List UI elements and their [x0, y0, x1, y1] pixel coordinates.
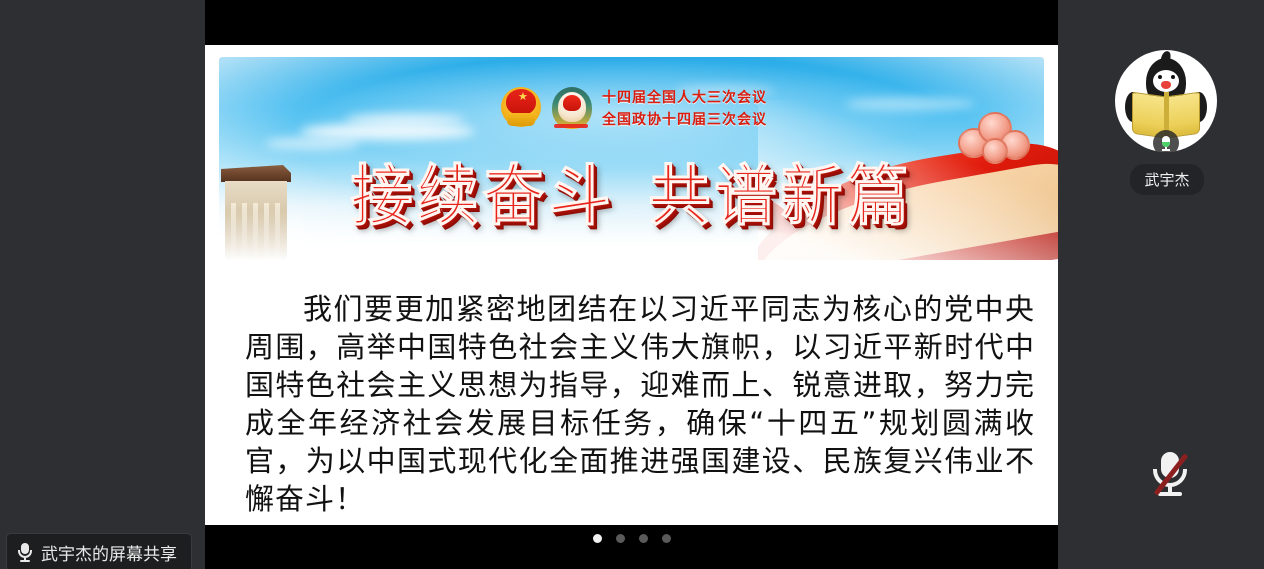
headline-part-1: 接续奋斗 — [350, 157, 614, 234]
pager-dot-2[interactable] — [616, 534, 625, 543]
slide-banner: ★ 十四届全国人大三次会议 全国政协十四届三次会议 — [205, 45, 1058, 260]
meeting-title-lines: 十四届全国人大三次会议 全国政协十四届三次会议 — [602, 87, 767, 129]
cppcc-emblem-icon — [551, 85, 593, 131]
presentation-slide[interactable]: ★ 十四届全国人大三次会议 全国政协十四届三次会议 — [205, 45, 1058, 525]
banner-headline: 接续奋斗共谱新篇 — [205, 142, 1058, 237]
mic-status-badge — [1153, 130, 1179, 152]
slide-pager[interactable] — [205, 534, 1058, 569]
screen-share-status-bar[interactable]: 武宇杰的屏幕共享 — [6, 533, 192, 569]
shared-content-stage: ★ 十四届全国人大三次会议 全国政协十四届三次会议 — [205, 0, 1058, 569]
emblem-and-meeting-titles: ★ 十四届全国人大三次会议 全国政协十四届三次会议 — [500, 85, 767, 131]
microphone-muted-icon[interactable] — [1148, 450, 1192, 498]
microphone-icon — [17, 543, 33, 562]
screen-share-label: 武宇杰的屏幕共享 — [41, 540, 177, 565]
body-paragraph: 我们要更加紧密地团结在以习近平同志为核心的党中央周围，高举中国特色社会主义伟大旗… — [245, 290, 1035, 518]
meeting-title-line-1: 十四届全国人大三次会议 — [602, 87, 767, 107]
headline-part-2: 共谱新篇 — [649, 157, 913, 234]
cloud-decoration — [345, 113, 465, 126]
pager-dot-3[interactable] — [639, 534, 648, 543]
screen-share-window: ★ 十四届全国人大三次会议 全国政协十四届三次会议 — [0, 0, 1264, 569]
pager-dot-4[interactable] — [662, 534, 671, 543]
slide-body-text: 我们要更加紧密地团结在以习近平同志为核心的党中央周围，高举中国特色社会主义伟大旗… — [245, 290, 1035, 518]
participant-tile[interactable]: 武宇杰 — [1115, 50, 1219, 195]
pager-dot-1[interactable] — [593, 534, 602, 543]
participant-name: 武宇杰 — [1130, 164, 1203, 195]
avatar[interactable] — [1115, 50, 1217, 152]
microphone-icon — [1162, 136, 1170, 151]
meeting-title-line-2: 全国政协十四届三次会议 — [602, 109, 767, 129]
national-emblem-icon: ★ — [500, 85, 542, 131]
